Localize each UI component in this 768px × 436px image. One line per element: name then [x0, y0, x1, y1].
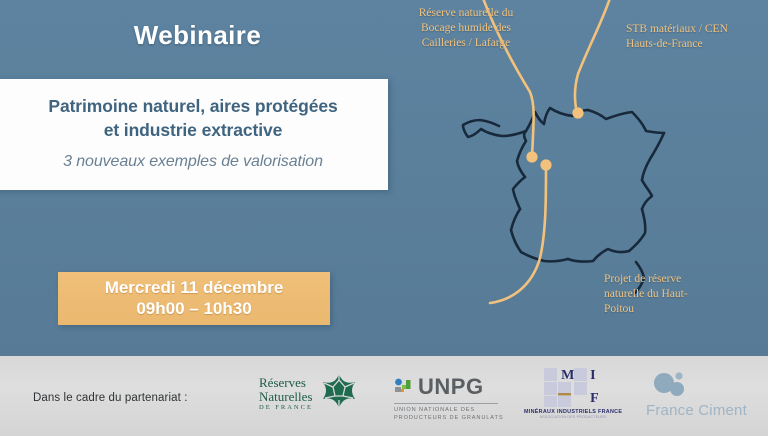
title-subtitle: 3 nouveaux exemples de valorisation: [63, 152, 323, 172]
logo-reserves-naturelles-de-france: Réserves Naturelles DE FRANCE: [259, 372, 361, 416]
connector-poitou: [490, 166, 546, 303]
annotation-poitou-line-3: Poitou: [604, 302, 754, 317]
annotation-bocage: Réserve naturelle du Bocage humide des C…: [386, 6, 546, 52]
logo-france-ciment: France Ciment: [646, 372, 747, 419]
rnf-wordmark: Réserves Naturelles DE FRANCE: [259, 376, 313, 412]
map-markers: [526, 107, 583, 170]
marker-poitou: [540, 159, 551, 170]
time-text: 09h00 – 10h30: [136, 298, 251, 320]
mif-letter-i: I: [590, 368, 595, 384]
unpg-divider: [394, 403, 498, 404]
mif-letter-f: F: [590, 391, 599, 407]
marker-bocage: [526, 151, 537, 162]
marker-stb: [572, 107, 583, 118]
annotation-bocage-line-1: Réserve naturelle du: [386, 6, 546, 21]
annotation-poitou-line-2: naturelle du Haut-: [604, 287, 754, 302]
annotation-poitou: Projet de réserve naturelle du Haut- Poi…: [604, 272, 754, 318]
france-ciment-wordmark: France Ciment: [646, 402, 747, 419]
unpg-subtitle-line-1: UNION NATIONALE DES: [394, 406, 475, 414]
webinar-slide: Webinaire Patrimoine naturel, aires prot…: [0, 0, 768, 436]
annotation-bocage-line-3: Cailleries / Lafarge: [386, 36, 546, 51]
page-title: Webinaire: [0, 20, 395, 51]
france-ciment-circles-icon: [650, 372, 694, 400]
unpg-blocks-icon: [394, 377, 414, 397]
title-card: Patrimoine naturel, aires protégées et i…: [0, 79, 388, 190]
title-line-2: et industrie extractive: [48, 119, 337, 142]
partnership-label: Dans le cadre du partenariat :: [33, 392, 188, 404]
date-text: Mercredi 11 décembre: [105, 277, 284, 298]
date-badge: Mercredi 11 décembre 09h00 – 10h30: [58, 272, 330, 325]
annotation-bocage-line-2: Bocage humide des: [386, 21, 546, 36]
unpg-row: UNPG: [394, 374, 484, 400]
france-outline-icon: [463, 108, 664, 293]
logo-unpg: UNPG UNION NATIONALE DES PRODUCTEURS DE …: [394, 374, 503, 423]
green-star-web-icon: [317, 372, 361, 416]
logo-mif: M I F MINÉRAUX INDUSTRIELS FRANCE ASSOCI…: [524, 366, 622, 419]
annotation-poitou-line-1: Projet de réserve: [604, 272, 754, 287]
unpg-subtitle-line-2: PRODUCTEURS DE GRANULATS: [394, 414, 503, 422]
mif-letter-m: M: [561, 368, 574, 384]
annotation-stb-line-1: STB matériaux / CEN: [626, 22, 768, 37]
unpg-wordmark: UNPG: [418, 374, 484, 400]
mif-subtitle-secondary: ASSOCIATION DES PRODUCTEURS: [540, 415, 607, 419]
title-line-1: Patrimoine naturel, aires protégées: [48, 95, 337, 118]
france-map: Réserve naturelle du Bocage humide des C…: [380, 0, 768, 356]
title-main: Patrimoine naturel, aires protégées et i…: [48, 95, 337, 141]
annotation-stb-line-2: Hauts-de-France: [626, 37, 768, 52]
annotation-stb: STB matériaux / CEN Hauts-de-France: [626, 22, 768, 52]
rnf-line-2: Naturelles: [259, 390, 313, 404]
mif-crossword-icon: M I F: [542, 366, 604, 408]
connector-stb: [575, 0, 610, 113]
rnf-line-3: DE FRANCE: [259, 405, 313, 412]
rnf-line-1: Réserves: [259, 376, 313, 390]
